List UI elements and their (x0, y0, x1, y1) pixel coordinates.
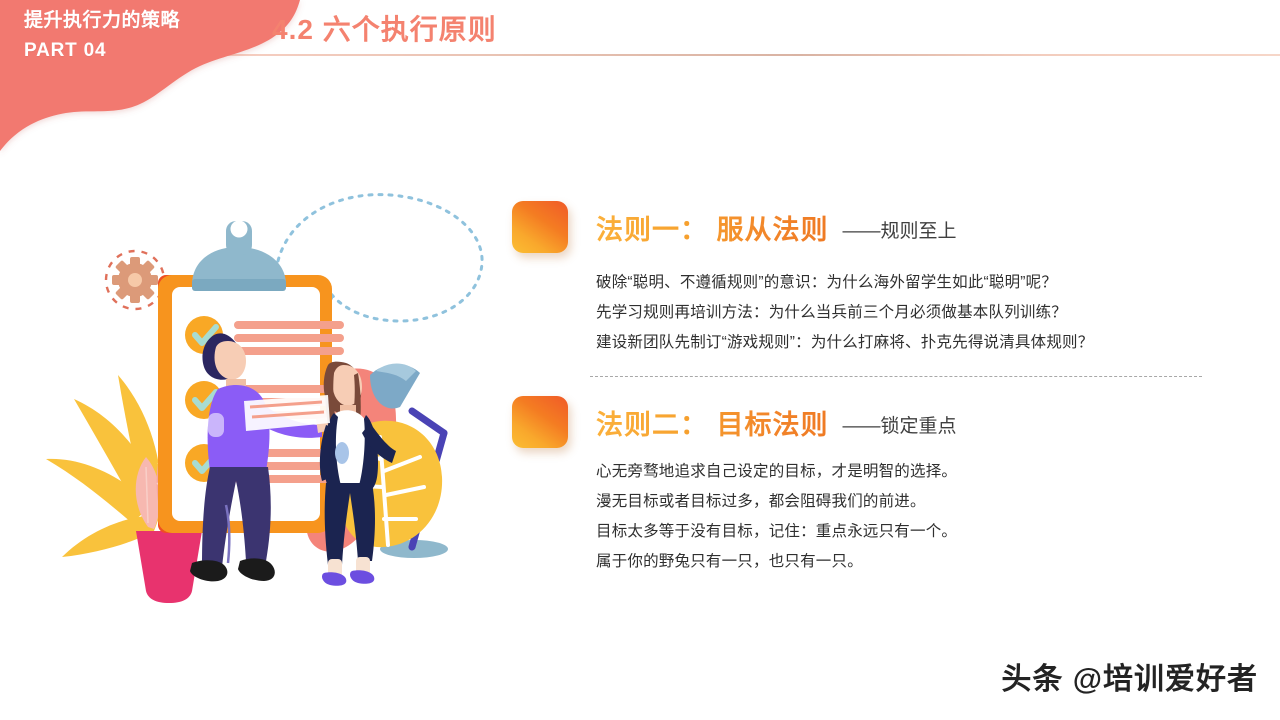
law-section-1: 法则一： 服从法则 ——规则至上 破除“聪明、不遵循规则”的意识：为什么海外留学… (512, 196, 1252, 358)
law-2-heading: 法则二： 目标法则 ——锁定重点 (512, 393, 1252, 451)
law-1-body: 破除“聪明、不遵循规则”的意识：为什么海外留学生如此“聪明”呢？ 先学习规则再培… (596, 268, 1252, 358)
law-1-line-3: 建设新团队先制订“游戏规则”：为什么打麻将、扑克先得说清具体规则？ (596, 328, 1252, 358)
law-1-line-1: 破除“聪明、不遵循规则”的意识：为什么海外留学生如此“聪明”呢？ (596, 268, 1252, 298)
page-title: 4.2 六个执行原则 (272, 8, 497, 48)
law-2-line-3: 目标太多等于没有目标，记住：重点永远只有一个。 (596, 517, 1252, 547)
law-2-line-1: 心无旁骛地追求自己设定的目标，才是明智的选择。 (596, 457, 1252, 487)
law-2-body: 心无旁骛地追求自己设定的目标，才是明智的选择。 漫无目标或者目标过多，都会阻碍我… (596, 457, 1252, 577)
watermark: 头条 @培训爱好者 (1001, 654, 1258, 698)
law-2-line-2: 漫无目标或者目标过多，都会阻碍我们的前进。 (596, 487, 1252, 517)
laws-content: 法则一： 服从法则 ——规则至上 破除“聪明、不遵循规则”的意识：为什么海外留学… (512, 196, 1252, 577)
law-1-line-2: 先学习规则再培训方法：为什么当兵前三个月必须做基本队列训练？ (596, 298, 1252, 328)
section-divider (590, 376, 1202, 377)
law-2-title: 法则二： 目标法则 (596, 403, 829, 442)
law-1-title: 法则一： 服从法则 (596, 208, 829, 247)
gear-icon (106, 251, 164, 309)
law-2-subtitle: ——锁定重点 (843, 411, 957, 438)
part-label: 提升执行力的策略 PART 04 (24, 8, 180, 63)
law-badge-1-icon (512, 201, 568, 253)
law-1-subtitle: ——规则至上 (843, 216, 957, 243)
law-badge-2-icon (512, 396, 568, 448)
part-strategy-text: 提升执行力的策略 (24, 8, 180, 34)
part-number-text: PART 04 (24, 38, 180, 64)
law-section-2: 法则二： 目标法则 ——锁定重点 心无旁骛地追求自己设定的目标，才是明智的选择。… (512, 393, 1252, 577)
law-2-line-4: 属于你的野兔只有一只，也只有一只。 (596, 547, 1252, 577)
law-1-heading: 法则一： 服从法则 ——规则至上 (512, 196, 1252, 258)
teamwork-checklist-illustration (40, 175, 490, 615)
